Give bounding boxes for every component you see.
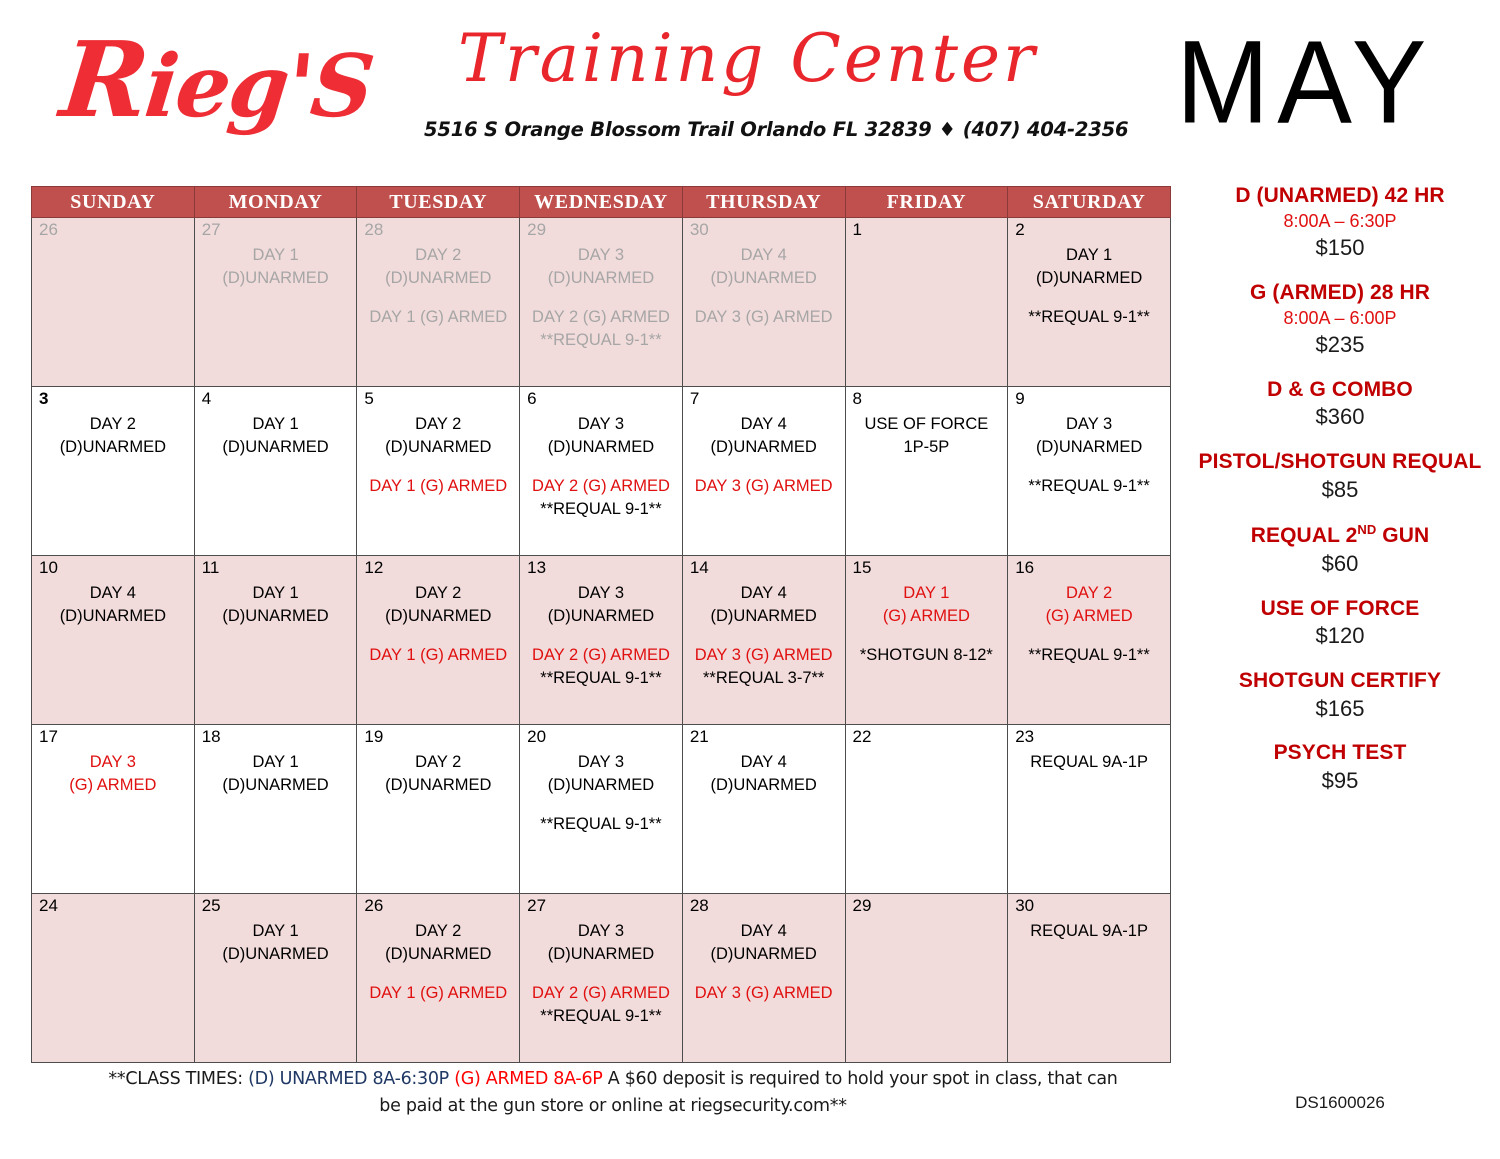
logo-rest: ieg'S bbox=[140, 36, 377, 137]
event-line: (D)UNARMED bbox=[526, 943, 676, 966]
calendar-day-cell[interactable]: 12DAY 2(D)UNARMEDDAY 1 (G) ARMED bbox=[357, 556, 520, 725]
event-line: (D)UNARMED bbox=[201, 774, 351, 797]
event-spacer bbox=[689, 291, 839, 306]
price-time: 8:00A – 6:00P bbox=[1186, 307, 1494, 330]
event-line: DAY 1 bbox=[201, 751, 351, 774]
event-line: **REQUAL 9-1** bbox=[526, 498, 676, 521]
event-line: (D)UNARMED bbox=[689, 943, 839, 966]
calendar-day-cell[interactable]: 19DAY 2(D)UNARMED bbox=[357, 725, 520, 894]
event-line: 1P-5P bbox=[852, 436, 1002, 459]
event-line: **REQUAL 9-1** bbox=[526, 329, 676, 352]
day-number: 5 bbox=[364, 390, 373, 407]
price-block: SHOTGUN CERTIFY$165 bbox=[1186, 669, 1494, 723]
event-line: **REQUAL 9-1** bbox=[1014, 306, 1164, 329]
event-spacer bbox=[363, 967, 513, 982]
event-line: (D)UNARMED bbox=[38, 605, 188, 628]
event-line: DAY 1 bbox=[1014, 244, 1164, 267]
price-block: D & G COMBO$360 bbox=[1186, 378, 1494, 432]
column-header-tuesday: TUESDAY bbox=[357, 187, 520, 218]
calendar-day-cell[interactable]: 27DAY 1(D)UNARMED bbox=[194, 218, 357, 387]
calendar-day-cell[interactable]: 4DAY 1(D)UNARMED bbox=[194, 387, 357, 556]
price-block: PSYCH TEST$95 bbox=[1186, 741, 1494, 795]
day-events: DAY 1(D)UNARMED**REQUAL 9-1** bbox=[1008, 218, 1170, 333]
event-line: DAY 1 bbox=[201, 413, 351, 436]
event-line: **REQUAL 9-1** bbox=[526, 1005, 676, 1028]
event-line: (D)UNARMED bbox=[1014, 267, 1164, 290]
event-line: **REQUAL 3-7** bbox=[689, 667, 839, 690]
price-title-pre: REQUAL 2 bbox=[1251, 524, 1358, 547]
event-spacer bbox=[363, 629, 513, 644]
event-line: (G) ARMED bbox=[852, 605, 1002, 628]
calendar-day-cell[interactable]: 22 bbox=[845, 725, 1008, 894]
calendar-day-cell[interactable]: 2DAY 1(D)UNARMED**REQUAL 9-1** bbox=[1008, 218, 1171, 387]
event-spacer bbox=[526, 798, 676, 813]
price-title: PISTOL/SHOTGUN REQUAL bbox=[1186, 450, 1494, 475]
event-line: DAY 3 (G) ARMED bbox=[689, 982, 839, 1005]
calendar-day-cell[interactable]: 28DAY 4(D)UNARMEDDAY 3 (G) ARMED bbox=[682, 894, 845, 1063]
event-spacer bbox=[1014, 291, 1164, 306]
event-line: DAY 2 (G) ARMED bbox=[526, 306, 676, 329]
calendar-day-cell[interactable]: 26 bbox=[32, 218, 195, 387]
calendar-day-cell[interactable]: 23REQUAL 9A-1P bbox=[1008, 725, 1171, 894]
day-events: DAY 3(D)UNARMED**REQUAL 9-1** bbox=[1008, 387, 1170, 502]
event-line: DAY 1 bbox=[201, 920, 351, 943]
price-amount: $85 bbox=[1186, 476, 1494, 505]
day-number: 19 bbox=[364, 728, 383, 745]
event-line: DAY 2 (G) ARMED bbox=[526, 475, 676, 498]
calendar-day-cell[interactable]: 30DAY 4(D)UNARMEDDAY 3 (G) ARMED bbox=[682, 218, 845, 387]
event-line: DAY 3 (G) ARMED bbox=[689, 475, 839, 498]
calendar-day-cell[interactable]: 10DAY 4(D)UNARMED bbox=[32, 556, 195, 725]
event-line: (D)UNARMED bbox=[363, 436, 513, 459]
calendar-day-cell[interactable]: 24 bbox=[32, 894, 195, 1063]
event-spacer bbox=[1014, 629, 1164, 644]
calendar-day-cell[interactable]: 16DAY 2(G) ARMED**REQUAL 9-1** bbox=[1008, 556, 1171, 725]
event-spacer bbox=[689, 967, 839, 982]
price-title: G (ARMED) 28 HR bbox=[1186, 281, 1494, 306]
event-line: (D)UNARMED bbox=[689, 774, 839, 797]
column-header-friday: FRIDAY bbox=[845, 187, 1008, 218]
event-line: (D)UNARMED bbox=[1014, 436, 1164, 459]
day-number: 26 bbox=[364, 897, 383, 914]
column-header-saturday: SATURDAY bbox=[1008, 187, 1171, 218]
event-spacer bbox=[526, 291, 676, 306]
logo-initial: R bbox=[56, 18, 153, 141]
calendar-day-cell[interactable]: 28DAY 2(D)UNARMEDDAY 1 (G) ARMED bbox=[357, 218, 520, 387]
calendar-day-cell[interactable]: 26DAY 2(D)UNARMEDDAY 1 (G) ARMED bbox=[357, 894, 520, 1063]
event-line: (G) ARMED bbox=[1014, 605, 1164, 628]
event-spacer bbox=[689, 460, 839, 475]
event-line: (D)UNARMED bbox=[526, 774, 676, 797]
day-events: DAY 4(D)UNARMEDDAY 3 (G) ARMED bbox=[683, 387, 845, 502]
price-amount: $165 bbox=[1186, 695, 1494, 724]
price-title: D (UNARMED) 42 HR bbox=[1186, 184, 1494, 209]
event-line: DAY 4 bbox=[38, 582, 188, 605]
company-logo: Rieg'S bbox=[56, 18, 379, 141]
calendar-day-cell[interactable]: 6DAY 3(D)UNARMEDDAY 2 (G) ARMED**REQUAL … bbox=[520, 387, 683, 556]
event-line: **REQUAL 9-1** bbox=[1014, 644, 1164, 667]
event-line: (D)UNARMED bbox=[201, 943, 351, 966]
event-line: DAY 2 bbox=[1014, 582, 1164, 605]
column-header-wednesday: WEDNESDAY bbox=[520, 187, 683, 218]
event-line: DAY 2 bbox=[363, 582, 513, 605]
event-spacer bbox=[689, 629, 839, 644]
calendar-day-cell[interactable]: 15DAY 1(G) ARMED*SHOTGUN 8-12* bbox=[845, 556, 1008, 725]
calendar-header-row: SUNDAY MONDAY TUESDAY WEDNESDAY THURSDAY… bbox=[32, 187, 1171, 218]
event-line: DAY 4 bbox=[689, 582, 839, 605]
event-line: (D)UNARMED bbox=[201, 605, 351, 628]
price-amount: $120 bbox=[1186, 622, 1494, 651]
event-line: **REQUAL 9-1** bbox=[1014, 475, 1164, 498]
day-number: 17 bbox=[39, 728, 58, 745]
price-amount: $360 bbox=[1186, 403, 1494, 432]
event-line: (D)UNARMED bbox=[201, 267, 351, 290]
column-header-sunday: SUNDAY bbox=[32, 187, 195, 218]
day-number: 10 bbox=[39, 559, 58, 576]
event-line: DAY 3 bbox=[38, 751, 188, 774]
event-line: DAY 1 bbox=[201, 244, 351, 267]
day-events: USE OF FORCE1P-5P bbox=[846, 387, 1008, 464]
day-number: 7 bbox=[690, 390, 699, 407]
event-spacer bbox=[363, 291, 513, 306]
event-line: (D)UNARMED bbox=[363, 774, 513, 797]
event-spacer bbox=[526, 629, 676, 644]
day-number: 11 bbox=[202, 559, 220, 576]
event-line: (G) ARMED bbox=[38, 774, 188, 797]
day-number: 24 bbox=[39, 897, 58, 914]
day-number: 9 bbox=[1015, 390, 1024, 407]
address-text: 5516 S Orange Blossom Trail Orlando FL 3… bbox=[424, 118, 932, 141]
calendar-day-cell[interactable]: 7DAY 4(D)UNARMEDDAY 3 (G) ARMED bbox=[682, 387, 845, 556]
day-number: 1 bbox=[853, 221, 862, 238]
event-line: DAY 2 (G) ARMED bbox=[526, 644, 676, 667]
calendar-day-cell[interactable]: 3DAY 2(D)UNARMED bbox=[32, 387, 195, 556]
event-line: DAY 3 bbox=[526, 244, 676, 267]
footer-unarmed-times: (D) UNARMED 8A-6:30P bbox=[248, 1069, 449, 1089]
address-and-phone: 5516 S Orange Blossom Trail Orlando FL 3… bbox=[424, 118, 1128, 141]
event-line: DAY 3 (G) ARMED bbox=[689, 306, 839, 329]
day-number: 30 bbox=[1015, 897, 1034, 914]
event-line: (D)UNARMED bbox=[363, 943, 513, 966]
day-number: 2 bbox=[1015, 221, 1024, 238]
event-line: DAY 2 (G) ARMED bbox=[526, 982, 676, 1005]
price-block: G (ARMED) 28 HR8:00A – 6:00P$235 bbox=[1186, 281, 1494, 360]
price-amount: $235 bbox=[1186, 331, 1494, 360]
day-number: 3 bbox=[39, 390, 48, 407]
day-number: 23 bbox=[1015, 728, 1034, 745]
day-number: 13 bbox=[527, 559, 546, 576]
day-number: 4 bbox=[202, 390, 211, 407]
day-events bbox=[846, 218, 1008, 248]
day-number: 22 bbox=[853, 728, 872, 745]
price-amount: $60 bbox=[1186, 550, 1494, 579]
event-line: REQUAL 9A-1P bbox=[1014, 751, 1164, 774]
event-line: DAY 3 bbox=[526, 582, 676, 605]
event-line: DAY 2 bbox=[363, 920, 513, 943]
calendar-day-cell[interactable]: 25DAY 1(D)UNARMED bbox=[194, 894, 357, 1063]
calendar-day-cell[interactable]: 11DAY 1(D)UNARMED bbox=[194, 556, 357, 725]
calendar-day-cell[interactable]: 5DAY 2(D)UNARMEDDAY 1 (G) ARMED bbox=[357, 387, 520, 556]
price-title: PSYCH TEST bbox=[1186, 741, 1494, 766]
day-number: 28 bbox=[364, 221, 383, 238]
event-line: DAY 1 (G) ARMED bbox=[363, 475, 513, 498]
day-events: DAY 2(D)UNARMEDDAY 1 (G) ARMED bbox=[357, 387, 519, 502]
event-line: (D)UNARMED bbox=[526, 436, 676, 459]
day-number: 16 bbox=[1015, 559, 1034, 576]
event-line: (D)UNARMED bbox=[526, 605, 676, 628]
calendar-day-cell[interactable]: 13DAY 3(D)UNARMEDDAY 2 (G) ARMED**REQUAL… bbox=[520, 556, 683, 725]
day-number: 21 bbox=[690, 728, 709, 745]
diamond-icon: ♦ bbox=[932, 118, 963, 141]
price-title: USE OF FORCE bbox=[1186, 597, 1494, 622]
footer-armed-times: (G) ARMED 8A-6P bbox=[454, 1069, 602, 1089]
tagline: Training Center bbox=[458, 20, 1038, 97]
event-spacer bbox=[526, 967, 676, 982]
day-events: DAY 2(D)UNARMED bbox=[32, 387, 194, 464]
day-events: DAY 3(D)UNARMEDDAY 2 (G) ARMED**REQUAL 9… bbox=[520, 387, 682, 526]
price-amount: $150 bbox=[1186, 234, 1494, 263]
day-number: 14 bbox=[690, 559, 709, 576]
price-title: D & G COMBO bbox=[1186, 378, 1494, 403]
event-line: DAY 3 bbox=[526, 413, 676, 436]
day-number: 27 bbox=[202, 221, 221, 238]
event-line: DAY 4 bbox=[689, 413, 839, 436]
month-title: MAY bbox=[1176, 24, 1434, 142]
day-number: 28 bbox=[690, 897, 709, 914]
day-number: 18 bbox=[202, 728, 221, 745]
calendar-grid: SUNDAY MONDAY TUESDAY WEDNESDAY THURSDAY… bbox=[31, 186, 1171, 1063]
page-header: Rieg'S Training Center 5516 S Orange Blo… bbox=[0, 0, 1500, 178]
event-line: USE OF FORCE bbox=[852, 413, 1002, 436]
day-events: DAY 1(D)UNARMED bbox=[195, 387, 357, 464]
event-spacer bbox=[1014, 460, 1164, 475]
event-line: DAY 4 bbox=[689, 751, 839, 774]
event-line: DAY 3 (G) ARMED bbox=[689, 644, 839, 667]
day-number: 26 bbox=[39, 221, 58, 238]
day-number: 15 bbox=[853, 559, 872, 576]
footer-prefix: **CLASS TIMES: bbox=[108, 1069, 248, 1089]
footer-deposit-text: A $60 deposit is required to hold your s… bbox=[603, 1069, 1118, 1089]
price-block: REQUAL 2ND GUN$60 bbox=[1186, 522, 1494, 578]
event-line: DAY 1 (G) ARMED bbox=[363, 306, 513, 329]
event-line: (D)UNARMED bbox=[201, 436, 351, 459]
calendar-day-cell[interactable]: 17DAY 3(G) ARMED bbox=[32, 725, 195, 894]
event-line: *SHOTGUN 8-12* bbox=[852, 644, 1002, 667]
event-line: (D)UNARMED bbox=[689, 267, 839, 290]
event-line: (D)UNARMED bbox=[526, 267, 676, 290]
event-line: **REQUAL 9-1** bbox=[526, 667, 676, 690]
event-line: DAY 2 bbox=[38, 413, 188, 436]
calendar-day-cell[interactable]: 20DAY 3(D)UNARMED**REQUAL 9-1** bbox=[520, 725, 683, 894]
event-line: DAY 1 (G) ARMED bbox=[363, 982, 513, 1005]
day-number: 25 bbox=[202, 897, 221, 914]
calendar-day-cell[interactable]: 21DAY 4(D)UNARMED bbox=[682, 725, 845, 894]
calendar-day-cell[interactable]: 14DAY 4(D)UNARMEDDAY 3 (G) ARMED**REQUAL… bbox=[682, 556, 845, 725]
column-header-thursday: THURSDAY bbox=[682, 187, 845, 218]
calendar-day-cell[interactable]: 29 bbox=[845, 894, 1008, 1063]
event-line: (D)UNARMED bbox=[689, 605, 839, 628]
calendar-day-cell[interactable]: 1 bbox=[845, 218, 1008, 387]
event-line: (D)UNARMED bbox=[363, 267, 513, 290]
phone-text: (407) 404-2356 bbox=[963, 118, 1129, 141]
calendar-day-cell[interactable]: 27DAY 3(D)UNARMEDDAY 2 (G) ARMED**REQUAL… bbox=[520, 894, 683, 1063]
calendar-week-row: 3DAY 2(D)UNARMED4DAY 1(D)UNARMED5DAY 2(D… bbox=[32, 387, 1171, 556]
event-line: DAY 1 bbox=[852, 582, 1002, 605]
day-number: 6 bbox=[527, 390, 536, 407]
price-title-ordinal: ND bbox=[1357, 522, 1376, 537]
day-number: 12 bbox=[364, 559, 383, 576]
event-spacer bbox=[363, 460, 513, 475]
event-line: DAY 1 (G) ARMED bbox=[363, 644, 513, 667]
price-block: USE OF FORCE$120 bbox=[1186, 597, 1494, 651]
event-line: DAY 3 bbox=[526, 920, 676, 943]
day-number: 20 bbox=[527, 728, 546, 745]
calendar-day-cell[interactable]: 29DAY 3(D)UNARMEDDAY 2 (G) ARMED**REQUAL… bbox=[520, 218, 683, 387]
footer-note: **CLASS TIMES: (D) UNARMED 8A-6:30P (G) … bbox=[38, 1066, 1188, 1120]
event-line: DAY 3 bbox=[1014, 413, 1164, 436]
event-line: DAY 2 bbox=[363, 751, 513, 774]
price-block: D (UNARMED) 42 HR8:00A – 6:30P$150 bbox=[1186, 184, 1494, 263]
event-line: DAY 2 bbox=[363, 244, 513, 267]
event-spacer bbox=[852, 629, 1002, 644]
calendar-day-cell[interactable]: 9DAY 3(D)UNARMED**REQUAL 9-1** bbox=[1008, 387, 1171, 556]
event-line: DAY 2 bbox=[363, 413, 513, 436]
calendar-day-cell[interactable]: 8USE OF FORCE1P-5P bbox=[845, 387, 1008, 556]
price-title-post: GUN bbox=[1376, 524, 1429, 547]
day-number: 29 bbox=[527, 221, 546, 238]
document-code: DS1600026 bbox=[1186, 1093, 1494, 1113]
price-title: SHOTGUN CERTIFY bbox=[1186, 669, 1494, 694]
price-time: 8:00A – 6:30P bbox=[1186, 210, 1494, 233]
calendar-week-row: 17DAY 3(G) ARMED18DAY 1(D)UNARMED19DAY 2… bbox=[32, 725, 1171, 894]
footer-line-two: be paid at the gun store or online at ri… bbox=[38, 1093, 1188, 1120]
event-line: **REQUAL 9-1** bbox=[526, 813, 676, 836]
event-line: DAY 4 bbox=[689, 244, 839, 267]
calendar-day-cell[interactable]: 18DAY 1(D)UNARMED bbox=[194, 725, 357, 894]
event-line: (D)UNARMED bbox=[689, 436, 839, 459]
event-spacer bbox=[526, 460, 676, 475]
event-line: REQUAL 9A-1P bbox=[1014, 920, 1164, 943]
day-number: 30 bbox=[690, 221, 709, 238]
calendar-week-row: 10DAY 4(D)UNARMED11DAY 1(D)UNARMED12DAY … bbox=[32, 556, 1171, 725]
price-amount: $95 bbox=[1186, 767, 1494, 796]
calendar-week-row: 2627DAY 1(D)UNARMED28DAY 2(D)UNARMEDDAY … bbox=[32, 218, 1171, 387]
event-line: DAY 3 bbox=[526, 751, 676, 774]
event-line: DAY 4 bbox=[689, 920, 839, 943]
event-line: (D)UNARMED bbox=[363, 605, 513, 628]
column-header-monday: MONDAY bbox=[194, 187, 357, 218]
day-number: 27 bbox=[527, 897, 546, 914]
calendar-day-cell[interactable]: 30REQUAL 9A-1P bbox=[1008, 894, 1171, 1063]
price-title: REQUAL 2ND GUN bbox=[1186, 522, 1494, 549]
day-number: 8 bbox=[853, 390, 862, 407]
price-block: PISTOL/SHOTGUN REQUAL$85 bbox=[1186, 450, 1494, 504]
day-number: 29 bbox=[853, 897, 872, 914]
event-line: (D)UNARMED bbox=[38, 436, 188, 459]
event-line: DAY 1 bbox=[201, 582, 351, 605]
price-list: D (UNARMED) 42 HR8:00A – 6:30P$150G (ARM… bbox=[1186, 184, 1494, 814]
calendar-body: 2627DAY 1(D)UNARMED28DAY 2(D)UNARMEDDAY … bbox=[32, 218, 1171, 1063]
calendar-week-row: 2425DAY 1(D)UNARMED26DAY 2(D)UNARMEDDAY … bbox=[32, 894, 1171, 1063]
